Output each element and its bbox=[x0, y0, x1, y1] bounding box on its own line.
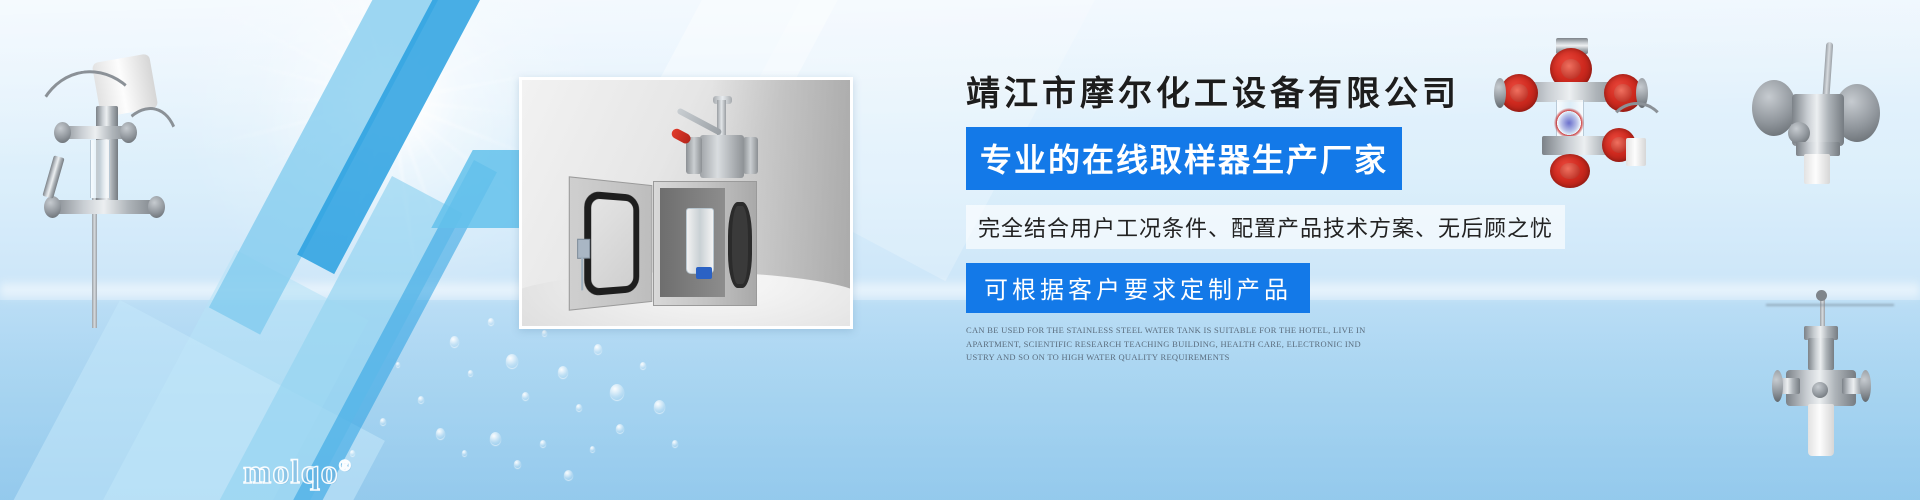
bv-flange-left bbox=[1772, 370, 1783, 402]
probe-rod bbox=[92, 198, 97, 328]
banner-text-block: 靖江市摩尔化工设备有限公司 专业的在线取样器生产厂家 完全结合用户工况条件、配置… bbox=[966, 76, 1706, 364]
photo-sampling-valve bbox=[683, 100, 762, 189]
promo-banner: 靖江市摩尔化工设备有限公司 专业的在线取样器生产厂家 完全结合用户工况条件、配置… bbox=[0, 0, 1920, 500]
bv-horizon-line bbox=[1766, 304, 1894, 306]
valve-body bbox=[700, 135, 744, 178]
english-caption: CAN BE USED FOR THE STAINLESS STEEL WATE… bbox=[966, 324, 1366, 364]
valve-flange-right bbox=[743, 137, 759, 174]
door-latch bbox=[577, 238, 590, 258]
flanged-lever-valve bbox=[1742, 36, 1892, 216]
registered-mark-icon: ® bbox=[339, 458, 352, 475]
center-product-photo bbox=[519, 77, 853, 329]
bv-nameplate-icon bbox=[1812, 382, 1828, 398]
sample-bottle bbox=[686, 208, 714, 274]
photo-scene bbox=[522, 80, 850, 326]
headline-badge: 专业的在线取样器生产厂家 bbox=[966, 127, 1402, 190]
bv-stem-knob bbox=[1816, 290, 1827, 301]
brand-watermark: molqo® bbox=[243, 454, 352, 492]
lv-nameplate-icon bbox=[1788, 122, 1810, 144]
bottle-cap bbox=[696, 267, 712, 279]
company-name: 靖江市摩尔化工设备有限公司 bbox=[966, 76, 1706, 113]
sub-headline: 完全结合用户工况条件、配置产品技术方案、无后顾之忧 bbox=[966, 205, 1565, 249]
door-window bbox=[584, 190, 639, 296]
bv-bonnet bbox=[1808, 338, 1834, 370]
cabinet-door bbox=[569, 176, 652, 311]
door-key bbox=[581, 256, 583, 290]
custom-product-badge: 可根据客户要求定制产品 bbox=[966, 263, 1310, 313]
watermark-text: molqo bbox=[243, 454, 339, 491]
left-product-sampler-assembly bbox=[10, 28, 180, 328]
lv-sample-bottle bbox=[1804, 154, 1830, 184]
bottom-sampling-valve bbox=[1776, 290, 1916, 490]
bv-flange-right bbox=[1860, 370, 1871, 402]
bv-sample-bottle bbox=[1808, 404, 1834, 456]
cabinet-side-handle bbox=[728, 202, 752, 289]
